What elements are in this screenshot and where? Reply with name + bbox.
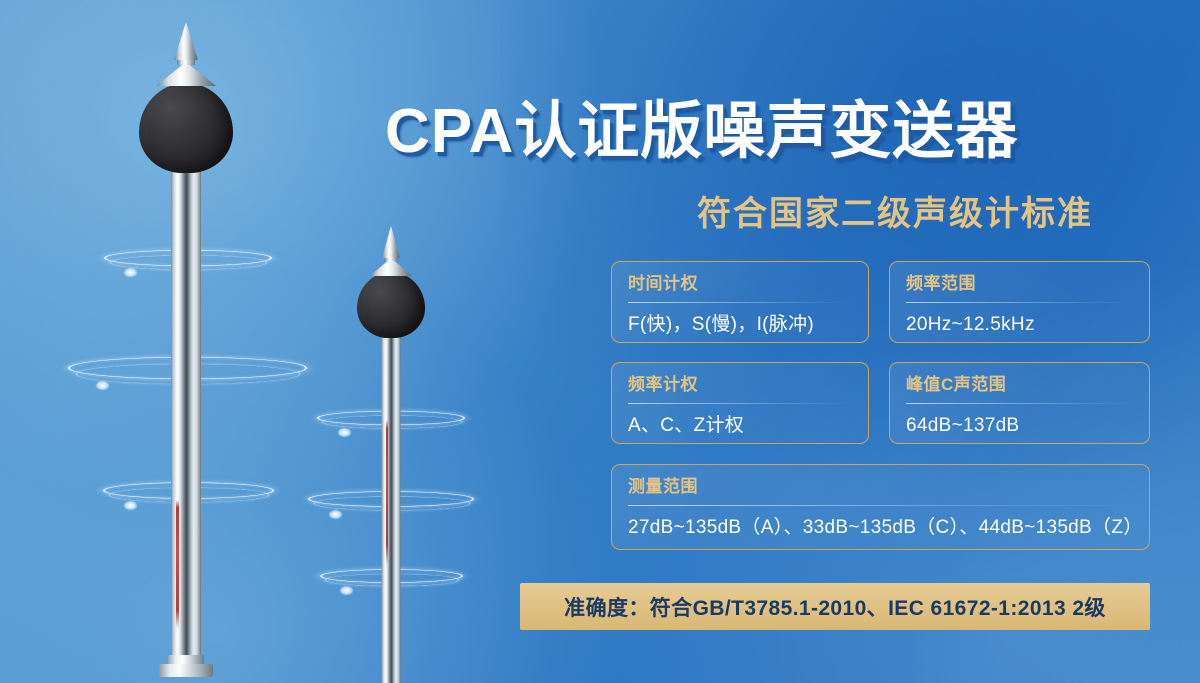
spec-card-time-weighting: 时间计权 F(快)，S(慢)，I(脉冲) [611, 261, 869, 343]
sound-wave-ring-highlight [124, 268, 137, 277]
spec-heading: 测量范围 [628, 478, 1133, 497]
spec-value: F(快)，S(慢)，I(脉冲) [628, 314, 852, 337]
spec-divider [628, 403, 852, 404]
page-subtitle: 符合国家二级声级计标准 [697, 186, 1093, 235]
black-foam-windscreen [139, 83, 233, 173]
spec-value: 27dB~135dB（A）、33dB~135dB（C）、44dB~135dB（Z… [628, 517, 1133, 540]
spec-heading: 频率计权 [628, 376, 852, 395]
spec-value: A、C、Z计权 [628, 415, 852, 438]
accuracy-text: 准确度：符合GB/T3785.1-2010、IEC 61672-1:2013 2… [564, 592, 1106, 622]
product-banner: CPA认证版噪声变送器 符合国家二级声级计标准 时间计权 F(快)，S(慢)，I… [0, 0, 1200, 683]
sound-wave-ring-highlight [124, 501, 137, 510]
pole-cable-stripe [176, 500, 179, 628]
page-title: CPA认证版噪声变送器 [385, 80, 1018, 170]
lightning-rod-spike [156, 62, 216, 86]
spec-divider [628, 505, 1133, 506]
spec-card-peak-c-range: 峰值C声范围 64dB~137dB [889, 362, 1150, 444]
spec-heading: 频率范围 [906, 275, 1133, 294]
accuracy-bar: 准确度：符合GB/T3785.1-2010、IEC 61672-1:2013 2… [520, 583, 1150, 630]
spec-divider [628, 302, 852, 303]
spec-heading: 时间计权 [628, 275, 852, 294]
spec-heading: 峰值C声范围 [906, 376, 1133, 395]
spec-card-frequency-range: 频率范围 20Hz~12.5kHz [889, 261, 1150, 343]
spec-card-frequency-weighting: 频率计权 A、C、Z计权 [611, 362, 869, 444]
spec-card-measurement-range: 测量范围 27dB~135dB（A）、33dB~135dB（C）、44dB~13… [611, 464, 1150, 550]
sound-wave-ring-highlight [96, 381, 109, 390]
spec-value: 64dB~137dB [906, 415, 1133, 438]
lightning-rod-spike [174, 22, 198, 60]
pole-base-flange [159, 664, 213, 677]
spec-value: 20Hz~12.5kHz [906, 314, 1133, 337]
spec-divider [906, 403, 1133, 404]
spec-divider [906, 302, 1133, 303]
